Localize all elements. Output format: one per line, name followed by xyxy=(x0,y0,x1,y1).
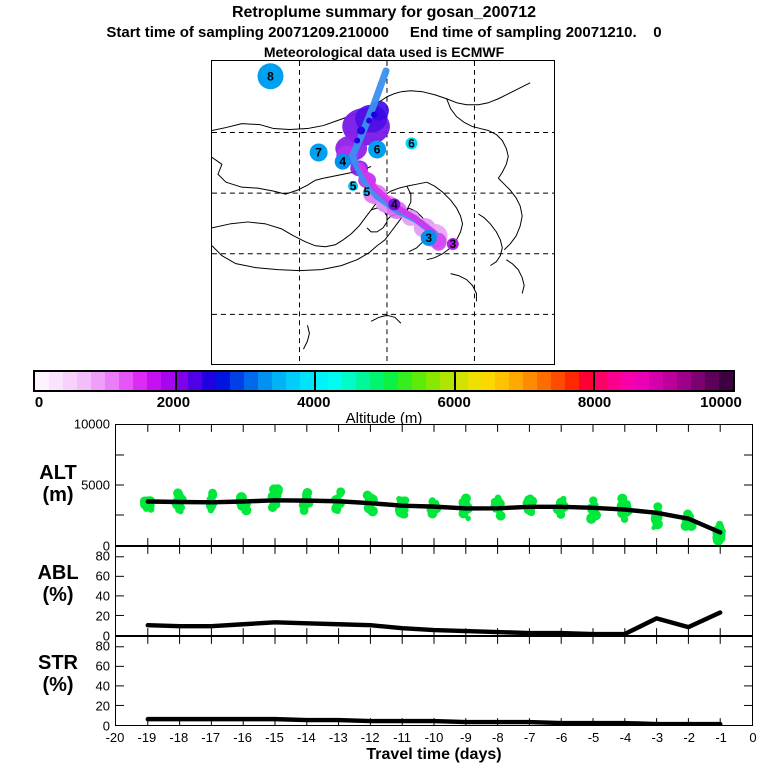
colorbar-swatch xyxy=(188,372,202,390)
colorbar-swatch xyxy=(328,372,342,390)
x-tick-label: -2 xyxy=(683,730,695,745)
colorbar-swatch xyxy=(105,372,119,390)
x-tick-label: -12 xyxy=(361,730,380,745)
colorbar-swatch xyxy=(384,372,398,390)
colorbar-swatch xyxy=(551,372,565,390)
colorbar-tick-label: 6000 xyxy=(438,394,471,411)
colorbar-swatch xyxy=(454,372,468,390)
colorbar-swatch xyxy=(468,372,482,390)
colorbar-swatch xyxy=(91,372,105,390)
colorbar-tick-label: 4000 xyxy=(297,394,330,411)
x-tick-label: 0 xyxy=(749,730,756,745)
colorbar-swatch xyxy=(412,372,426,390)
colorbar-swatch xyxy=(147,372,161,390)
sampling-time-line: Start time of sampling 20071209.210000 E… xyxy=(0,23,768,43)
trend-line xyxy=(148,613,720,635)
colorbar-swatch xyxy=(677,372,691,390)
colorbar-swatch xyxy=(440,372,454,390)
colorbar-tick-label: 8000 xyxy=(578,394,611,411)
colorbar-swatch xyxy=(663,372,677,390)
map-day-marker-label: 6 xyxy=(408,136,415,150)
colorbar-swatch xyxy=(175,372,189,390)
colorbar-swatch xyxy=(482,372,496,390)
scatter-point xyxy=(399,511,406,518)
x-tick-label: -13 xyxy=(329,730,348,745)
colorbar-tick-label: 10000 xyxy=(700,394,742,411)
colorbar-swatch xyxy=(649,372,663,390)
retroplume-map[interactable]: 8766554433 xyxy=(211,60,555,365)
y-tick-label: 10000 xyxy=(40,417,110,432)
map-day-marker-label: 7 xyxy=(315,146,322,160)
meteorology-line: Meteorological data used is ECMWF xyxy=(0,43,768,61)
y-tick-label: 60 xyxy=(40,659,110,674)
x-tick-label: -9 xyxy=(460,730,472,745)
x-tick-label: -16 xyxy=(233,730,252,745)
colorbar-swatch xyxy=(258,372,272,390)
chart-alt-canvas xyxy=(116,425,752,545)
x-tick-label: -3 xyxy=(652,730,664,745)
chart-str[interactable] xyxy=(115,636,753,726)
colorbar-swatch xyxy=(161,372,175,390)
map-day-marker-label: 3 xyxy=(449,237,456,251)
colorbar-swatch xyxy=(593,372,607,390)
y-tick-label: 40 xyxy=(40,679,110,694)
colorbar-swatch xyxy=(635,372,649,390)
scatter-point xyxy=(497,514,503,520)
x-tick-label: -4 xyxy=(620,730,632,745)
map-day-marker-label: 6 xyxy=(374,142,381,156)
page-title: Retroplume summary for gosan_200712 xyxy=(0,3,768,23)
colorbar-swatch xyxy=(579,372,593,390)
colorbar-swatch xyxy=(495,372,509,390)
header-block: Retroplume summary for gosan_200712 Star… xyxy=(0,0,768,61)
colorbar-swatch xyxy=(607,372,621,390)
colorbar-swatch xyxy=(523,372,537,390)
colorbar-swatch xyxy=(719,372,733,390)
altitude-colorbar-block: 0200040006000800010000 Altitude (m) xyxy=(0,368,768,422)
y-tick-label: 80 xyxy=(40,549,110,564)
colorbar-swatch xyxy=(314,372,328,390)
colorbar-swatch xyxy=(119,372,133,390)
x-tick-label: -18 xyxy=(169,730,188,745)
timeseries-block: ALT (m) ABL (%) STR (%) 0500010000 02040… xyxy=(0,424,768,768)
x-tick-label: -19 xyxy=(137,730,156,745)
scatter-point xyxy=(589,496,597,504)
map-day-marker-label: 4 xyxy=(339,155,346,169)
scatter-point xyxy=(461,494,471,504)
x-tick-label: -15 xyxy=(265,730,284,745)
y-tick-label: 60 xyxy=(40,569,110,584)
chart-alt[interactable] xyxy=(115,424,753,546)
x-axis-title: Travel time (days) xyxy=(115,746,753,764)
map-day-marker-label: 5 xyxy=(350,179,357,193)
x-tick-label: -17 xyxy=(201,730,220,745)
x-tick-label: -20 xyxy=(106,730,125,745)
y-tick-label: 40 xyxy=(40,589,110,604)
colorbar-swatch xyxy=(202,372,216,390)
scatter-point xyxy=(244,505,249,510)
colorbar-swatch xyxy=(342,372,356,390)
x-tick-label: -10 xyxy=(425,730,444,745)
scatter-point xyxy=(593,515,598,520)
x-tick-label: -8 xyxy=(492,730,504,745)
colorbar-swatch xyxy=(244,372,258,390)
x-tick-label: -1 xyxy=(715,730,727,745)
colorbar-swatch xyxy=(565,372,579,390)
scatter-points xyxy=(140,484,726,545)
colorbar-swatch xyxy=(286,372,300,390)
x-tick-label: -5 xyxy=(588,730,600,745)
scatter-point xyxy=(368,494,373,499)
colorbar-swatch xyxy=(49,372,63,390)
scatter-point xyxy=(465,516,470,521)
colorbar-swatch xyxy=(77,372,91,390)
x-tick-label: -11 xyxy=(393,730,411,745)
colorbar-swatch xyxy=(398,372,412,390)
map-day-marker-label: 4 xyxy=(391,197,398,211)
y-tick-label: 5000 xyxy=(40,478,110,493)
colorbar-swatch xyxy=(216,372,230,390)
chart-abl[interactable] xyxy=(115,546,753,636)
scatter-point xyxy=(336,487,345,496)
y-tick-label: 80 xyxy=(40,639,110,654)
scatter-point xyxy=(209,495,214,500)
x-tick-label: -7 xyxy=(524,730,536,745)
scatter-point xyxy=(268,503,277,512)
y-tick-label: 0 xyxy=(40,719,110,734)
colorbar-swatch xyxy=(272,372,286,390)
colorbar-tick-label: 2000 xyxy=(157,394,190,411)
map-day-marker-label: 3 xyxy=(425,231,432,245)
colorbar-swatch xyxy=(691,372,705,390)
chart-abl-canvas xyxy=(116,547,752,635)
colorbar-swatch xyxy=(537,372,551,390)
x-tick-label: -14 xyxy=(297,730,316,745)
colorbar-swatch xyxy=(63,372,77,390)
colorbar-tick-label: 0 xyxy=(35,394,43,411)
colorbar-swatch xyxy=(356,372,370,390)
colorbar-swatch xyxy=(300,372,314,390)
colorbar-swatch xyxy=(426,372,440,390)
y-tick-label: 20 xyxy=(40,609,110,624)
map-day-marker-label: 8 xyxy=(267,69,274,83)
chart-str-canvas xyxy=(116,637,752,725)
altitude-colorbar xyxy=(33,370,735,392)
scatter-point xyxy=(178,509,184,515)
colorbar-swatch xyxy=(370,372,384,390)
scatter-point xyxy=(272,486,283,496)
colorbar-swatch xyxy=(509,372,523,390)
map-day-markers-layer: 8766554433 xyxy=(212,61,556,366)
y-tick-label: 20 xyxy=(40,699,110,714)
map-day-marker-label: 5 xyxy=(363,185,370,199)
colorbar-swatch xyxy=(35,372,49,390)
colorbar-swatch xyxy=(133,372,147,390)
x-tick-label: -6 xyxy=(556,730,568,745)
colorbar-swatch xyxy=(705,372,719,390)
trend-line xyxy=(148,719,720,724)
colorbar-swatch xyxy=(621,372,635,390)
scatter-point xyxy=(617,494,627,504)
scatter-point xyxy=(557,511,564,518)
colorbar-swatch xyxy=(230,372,244,390)
